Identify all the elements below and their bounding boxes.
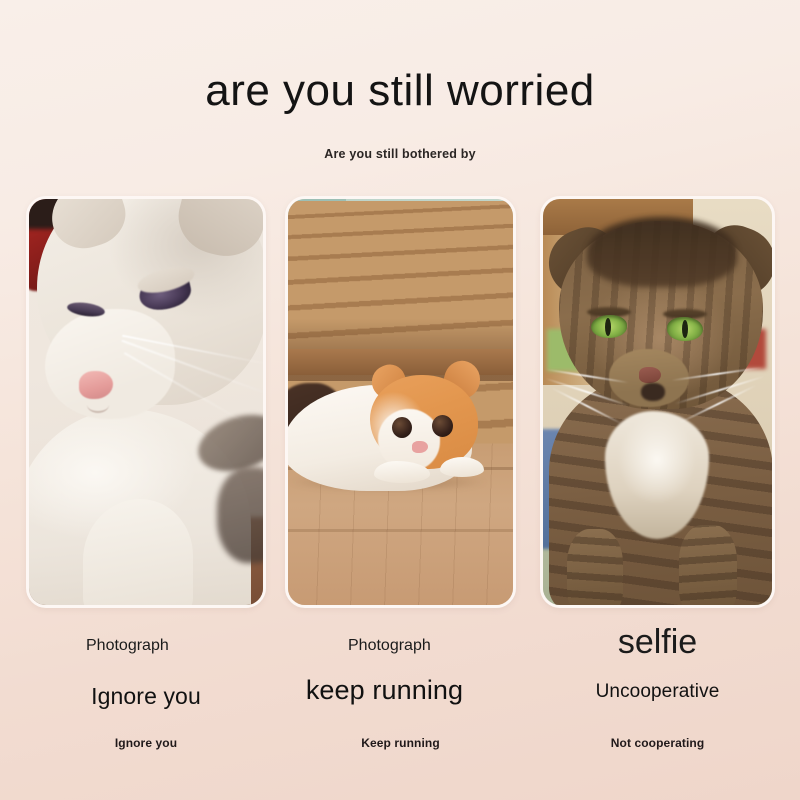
caption-kicker-2: Photograph [348,636,444,656]
caption-main-3: Uncooperative [540,682,775,703]
cat-photo-under-bed [288,199,513,605]
caption-kicker-1: Photograph [86,636,182,656]
page-subtitle: Are you still bothered by [0,147,800,161]
photo-card-3[interactable] [540,196,775,608]
poster-root: are you still worried Are you still both… [0,0,800,800]
photo-card-row [0,196,800,608]
caption-sub-3: Not cooperating [540,736,775,750]
caption-main-1: Ignore you [26,684,266,709]
caption-row: Photograph Ignore you Ignore you Photogr… [0,608,800,800]
photo-card-2[interactable] [285,196,516,608]
page-title: are you still worried [0,66,800,117]
caption-main-2: keep running [269,676,500,705]
photo-card-1[interactable] [26,196,266,608]
cat-photo-white-profile [29,199,263,605]
caption-kicker-3: selfie [540,622,775,663]
cat-photo-grumpy-tabby [543,199,772,605]
caption-sub-1: Ignore you [26,736,266,750]
caption-sub-2: Keep running [285,736,516,750]
